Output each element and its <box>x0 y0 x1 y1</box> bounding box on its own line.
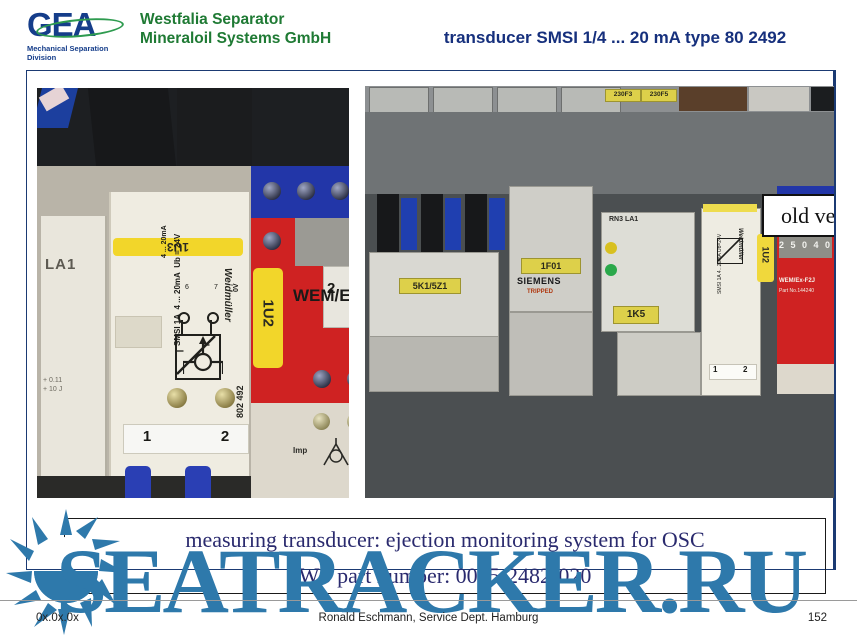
terminal-number-strip: 1 2 <box>123 424 249 454</box>
cabinet-lower-area: 5K1/5Z1 1F01 SIEMENS TRIPPED RN3 LA1 1K5… <box>365 194 834 498</box>
company-name-line2: Mineraloil Systems GmbH <box>140 30 331 47</box>
strip-screw-1 <box>313 413 330 430</box>
wire-duct-1 <box>377 194 399 256</box>
photo-left-dark-top <box>37 88 349 166</box>
photo-transducer-closeup: LA1 + 0.11+ 10 J 1U3 I I 4 ... 20mA 6 7 … <box>37 88 349 498</box>
yellow-tag-1u2: 1U2 <box>253 268 283 368</box>
counter-digits: 2 5 0 4 0 <box>779 240 832 250</box>
rail-hole-r1 <box>263 232 281 250</box>
photo-left-dark-shape-1 <box>88 88 176 166</box>
transducer-top-tag <box>703 204 757 212</box>
cabinet-top-row: 230F3 230F5 <box>365 86 834 112</box>
adjust-screw-2 <box>215 388 235 408</box>
transducer-yellow-tag-label: 1U2 <box>761 247 771 264</box>
imp-label: Imp <box>293 446 307 455</box>
footer-author: Ronald Eschmann, Service Dept. Hamburg <box>0 612 857 624</box>
breaker-tag-1f01: 1F01 <box>521 258 581 274</box>
schematic-meter-symbol <box>183 336 223 374</box>
relay-tag-rn3la1: RN3 LA1 <box>609 216 638 223</box>
gea-logo-mark: GEA <box>27 8 129 42</box>
adjacent-block-label: LA1 <box>45 256 76 273</box>
transducer-brand-right: Weidmüller <box>737 228 743 260</box>
breaker-brand-siemens: SIEMENS <box>517 276 561 286</box>
terminal-number-2: 2 <box>208 428 242 445</box>
slide-canvas: GEA Mechanical SeparationDivision Westfa… <box>0 0 857 641</box>
top-module-3 <box>497 87 557 113</box>
red-module-white-strip <box>777 364 834 394</box>
relay-led-yellow <box>605 242 617 254</box>
module-recess <box>115 316 162 348</box>
contactor-base <box>369 336 499 392</box>
rail-hole-b2 <box>297 182 315 200</box>
contactor-tag-5k1: 5K1/5Z1 <box>399 278 461 294</box>
device-part-number: 802 492 <box>235 385 245 418</box>
wire-duct-3 <box>465 194 487 256</box>
cabinet-shelf <box>365 112 834 197</box>
gea-logo: GEA Mechanical SeparationDivision <box>27 6 132 64</box>
rail-hole-b3 <box>331 182 349 200</box>
blue-wire-3 <box>489 198 505 250</box>
rail-hole-b1 <box>263 182 281 200</box>
gea-logo-subtitle: Mechanical SeparationDivision <box>27 44 147 62</box>
callout-old-version: old version, until summer 2000 <box>762 194 834 237</box>
imp-symbol <box>321 438 349 468</box>
company-name-line1: Westfalia Separator <box>140 11 284 28</box>
transducer-num2-right: 2 <box>743 365 747 374</box>
red-module-partno: Part No.144240 <box>779 288 814 294</box>
content-frame-right-edge <box>834 70 836 570</box>
caption-line-2: WS part number: 0005-2482-020 <box>65 563 825 589</box>
callout-old-version-text: old version, until summer 2000 <box>781 203 834 229</box>
schematic-range-label: 4 ... 20mA <box>161 225 168 258</box>
breaker-base <box>509 312 593 396</box>
yellow-tag-1u2-label: 1U2 <box>260 300 277 330</box>
top-dark-block <box>811 87 834 111</box>
schematic-ov-label: 0V <box>233 283 240 292</box>
brand-weidmuller-label: Weidmüller <box>222 268 233 322</box>
rail-hole-r4 <box>313 370 331 388</box>
photo-left-dark-shape-2 <box>177 88 252 166</box>
device-spec-label: SMSI 1A 4 ... 20mA Ub = 24V <box>173 234 183 346</box>
contactor-group <box>369 252 499 338</box>
red-module-label: WEM/Ex-F2J <box>779 278 815 284</box>
wire-duct-2 <box>421 194 443 256</box>
transducer-yellow-tag-right: 1U2 <box>757 234 774 282</box>
schematic-terminal-7 <box>207 312 219 324</box>
rail-hole-r5 <box>347 370 349 388</box>
adjacent-block-small-label: + 0.11+ 10 J <box>43 376 62 394</box>
top-brown-block <box>679 87 747 111</box>
breaker-tripped-label: TRIPPED <box>527 289 553 295</box>
blue-wire-2 <box>445 198 461 250</box>
top-module-1 <box>369 87 429 113</box>
adjust-screw-1 <box>167 388 187 408</box>
schematic-terminal-6-num: 6 <box>185 284 189 291</box>
caption-line-1: measuring transducer: ejection monitorin… <box>65 527 825 553</box>
blue-terminal-cap-2 <box>185 466 211 498</box>
top-module-2 <box>433 87 493 113</box>
relay-tag-1k5: 1K5 <box>613 306 659 324</box>
slide-header: GEA Mechanical SeparationDivision Westfa… <box>0 0 857 68</box>
page-title: transducer SMSI 1/4 ... 20 mA type 80 24… <box>380 28 850 48</box>
fuse-tag-230f3: 230F3 <box>605 89 641 102</box>
blue-terminal-rail <box>251 166 349 218</box>
slide-footer: 0x.0x.0x Ronald Eschmann, Service Dept. … <box>0 600 857 642</box>
transducer-spec-right: SMSI 1A 4...20mA Ub=24V <box>717 234 723 294</box>
blue-wire-1 <box>401 198 417 250</box>
transducer-num1-right: 1 <box>713 365 717 374</box>
company-name: Westfalia Separator Mineraloil Systems G… <box>140 10 331 48</box>
grey-block-top <box>295 218 349 266</box>
blue-terminal-cap-1 <box>125 466 151 498</box>
red-module-text: WEM/E <box>293 286 349 306</box>
fuse-tag-230f5: 230F5 <box>641 89 677 102</box>
top-grey-block <box>749 87 809 111</box>
strip-screw-2 <box>347 413 349 430</box>
photo-cabinet-overview: 230F3 230F5 5K1/5Z1 1F01 SIEMENS TRIPPED <box>365 86 834 498</box>
schematic-terminal-7-num: 7 <box>214 284 218 291</box>
footer-page-number: 152 <box>808 612 827 624</box>
terminal-number-1: 1 <box>130 428 164 445</box>
relay-led-green <box>605 264 617 276</box>
caption-box: measuring transducer: ejection monitorin… <box>64 518 826 594</box>
relay-base <box>617 332 701 396</box>
